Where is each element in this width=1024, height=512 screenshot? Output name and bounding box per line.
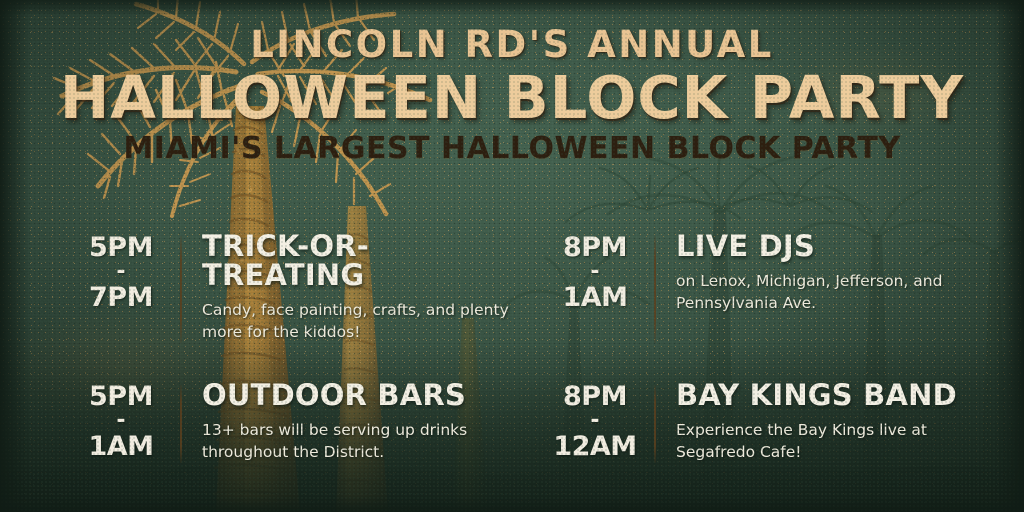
event-time: 5PM - 7PM xyxy=(78,232,164,311)
event-start-time: 8PM xyxy=(552,234,638,261)
torn-edge-right xyxy=(994,0,1024,512)
event-item: 5PM - 1AM OUTDOOR BARS 13+ bars will be … xyxy=(78,381,510,463)
event-divider xyxy=(180,236,182,343)
event-description: 13+ bars will be serving up drinks throu… xyxy=(202,419,510,463)
event-body: BAY KINGS BAND Experience the Bay Kings … xyxy=(676,381,984,463)
event-description: on Lenox, Michigan, Jefferson, and Penns… xyxy=(676,270,984,314)
headline-eyebrow: LINCOLN RD'S ANNUAL xyxy=(0,26,1024,63)
event-time: 8PM - 1AM xyxy=(552,232,638,311)
event-time: 8PM - 12AM xyxy=(552,381,638,460)
event-item: 5PM - 7PM TRICK-OR-TREATING Candy, face … xyxy=(78,232,510,343)
time-range-dash: - xyxy=(552,263,638,281)
event-body: OUTDOOR BARS 13+ bars will be serving up… xyxy=(202,381,510,463)
event-body: LIVE DJS on Lenox, Michigan, Jefferson, … xyxy=(676,232,984,314)
event-end-time: 1AM xyxy=(78,433,164,460)
event-title: OUTDOOR BARS xyxy=(202,381,510,410)
event-item: 8PM - 12AM BAY KINGS BAND Experience the… xyxy=(552,381,984,463)
time-range-dash: - xyxy=(78,412,164,430)
headline-block: LINCOLN RD'S ANNUAL HALLOWEEN BLOCK PART… xyxy=(0,26,1024,164)
event-end-time: 7PM xyxy=(78,284,164,311)
event-time: 5PM - 1AM xyxy=(78,381,164,460)
event-item: 8PM - 1AM LIVE DJS on Lenox, Michigan, J… xyxy=(552,232,984,343)
page-title: HALLOWEEN BLOCK PARTY xyxy=(0,67,1024,129)
time-range-dash: - xyxy=(552,412,638,430)
event-divider xyxy=(654,385,656,463)
torn-edge-left xyxy=(0,0,30,512)
event-end-time: 12AM xyxy=(552,433,638,460)
event-divider xyxy=(654,236,656,343)
torn-edge-bottom xyxy=(0,496,1024,512)
event-description: Candy, face painting, crafts, and plenty… xyxy=(202,299,510,343)
event-title: BAY KINGS BAND xyxy=(676,381,984,410)
torn-edge-top xyxy=(0,0,1024,16)
event-title: LIVE DJS xyxy=(676,232,984,261)
event-start-time: 8PM xyxy=(552,383,638,410)
event-schedule-grid: 5PM - 7PM TRICK-OR-TREATING Candy, face … xyxy=(78,232,984,463)
headline-subtitle: MIAMI'S LARGEST HALLOWEEN BLOCK PARTY xyxy=(0,134,1024,164)
poster-content: LINCOLN RD'S ANNUAL HALLOWEEN BLOCK PART… xyxy=(0,0,1024,512)
event-body: TRICK-OR-TREATING Candy, face painting, … xyxy=(202,232,510,343)
event-divider xyxy=(180,385,182,463)
time-range-dash: - xyxy=(78,263,164,281)
event-start-time: 5PM xyxy=(78,383,164,410)
event-end-time: 1AM xyxy=(552,284,638,311)
halloween-block-party-poster: LINCOLN RD'S ANNUAL HALLOWEEN BLOCK PART… xyxy=(0,0,1024,512)
event-title: TRICK-OR-TREATING xyxy=(202,232,510,290)
event-start-time: 5PM xyxy=(78,234,164,261)
event-description: Experience the Bay Kings live at Segafre… xyxy=(676,419,984,463)
